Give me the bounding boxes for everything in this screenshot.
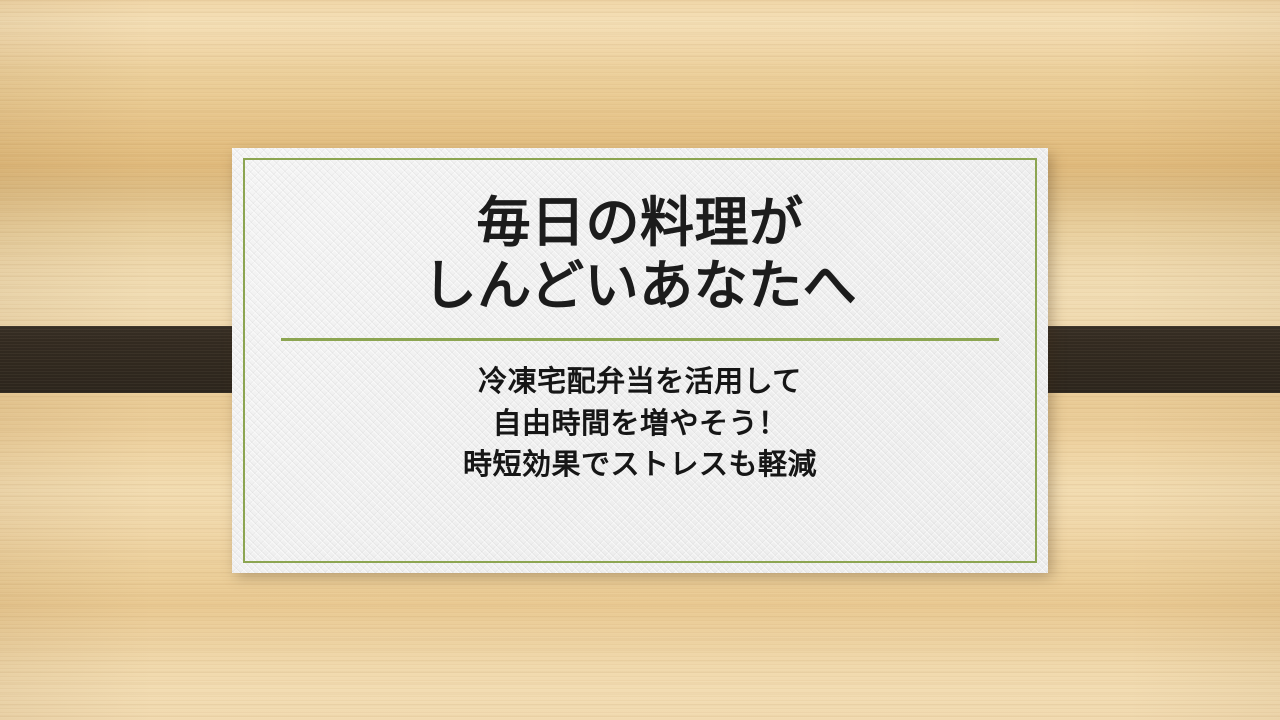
title-divider-rule (281, 338, 999, 341)
title-card-content: 毎日の料理が しんどいあなたへ 冷凍宅配弁当を活用して 自由時間を増やそう！ 時… (232, 148, 1048, 573)
slide-subtitle-line-2: 自由時間を増やそう！ (463, 404, 817, 445)
presentation-slide: 毎日の料理が しんどいあなたへ 冷凍宅配弁当を活用して 自由時間を増やそう！ 時… (0, 0, 1280, 720)
slide-title: 毎日の料理が しんどいあなたへ (232, 192, 1048, 318)
title-card: 毎日の料理が しんどいあなたへ 冷凍宅配弁当を活用して 自由時間を増やそう！ 時… (232, 148, 1048, 573)
slide-title-line-1: 毎日の料理が (232, 192, 1048, 255)
slide-subtitle: 冷凍宅配弁当を活用して 自由時間を増やそう！ 時短効果でストレスも軽減 (463, 362, 817, 486)
slide-subtitle-line-1: 冷凍宅配弁当を活用して (463, 362, 817, 403)
slide-title-line-2: しんどいあなたへ (232, 255, 1048, 318)
slide-subtitle-line-3: 時短効果でストレスも軽減 (463, 445, 817, 486)
